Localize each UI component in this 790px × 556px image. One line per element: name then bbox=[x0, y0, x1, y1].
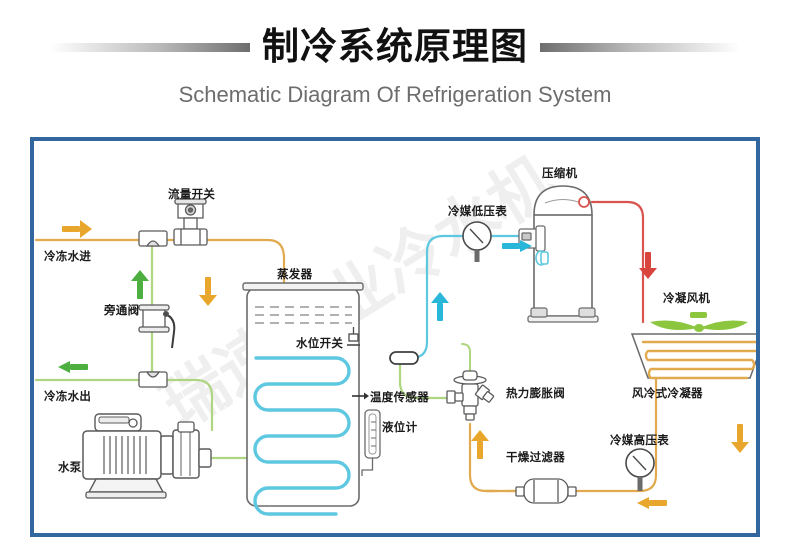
page-subtitle: Schematic Diagram Of Refrigeration Syste… bbox=[0, 82, 790, 108]
page-title: 制冷系统原理图 bbox=[250, 25, 540, 69]
schematic-page: 制冷系统原理图 Schematic Diagram Of Refrigerati… bbox=[0, 0, 790, 556]
label-thermal-expansion-valve: 热力膨胀阀 bbox=[506, 385, 565, 401]
title-rule-right bbox=[540, 43, 740, 52]
label-evaporator: 蒸发器 bbox=[277, 266, 312, 282]
label-refrigerant-low-gauge: 冷媒低压表 bbox=[448, 203, 507, 219]
label-air-cooled-condenser: 风冷式冷凝器 bbox=[632, 385, 703, 401]
label-condenser-fan: 冷凝风机 bbox=[663, 290, 710, 306]
label-flow-switch: 流量开关 bbox=[168, 186, 215, 202]
title-rule-left bbox=[50, 43, 250, 52]
label-water-pump: 水泵 bbox=[58, 459, 82, 475]
label-chilled-water-outlet: 冷冻水出 bbox=[44, 388, 91, 404]
label-dryer-filter: 干燥过滤器 bbox=[506, 449, 565, 465]
label-liquid-level-gauge: 液位计 bbox=[382, 419, 417, 435]
title-row: 制冷系统原理图 bbox=[0, 22, 790, 72]
label-compressor: 压缩机 bbox=[542, 165, 577, 181]
page-header: 制冷系统原理图 Schematic Diagram Of Refrigerati… bbox=[0, 0, 790, 125]
label-refrigerant-high-gauge: 冷媒高压表 bbox=[610, 432, 669, 448]
label-water-level-switch: 水位开关 bbox=[296, 335, 343, 351]
label-temperature-sensor: 温度传感器 bbox=[370, 389, 429, 405]
label-chilled-water-inlet: 冷冻水进 bbox=[44, 248, 91, 264]
diagram-frame bbox=[30, 137, 760, 537]
label-bypass-valve: 旁通阀 bbox=[104, 302, 139, 318]
